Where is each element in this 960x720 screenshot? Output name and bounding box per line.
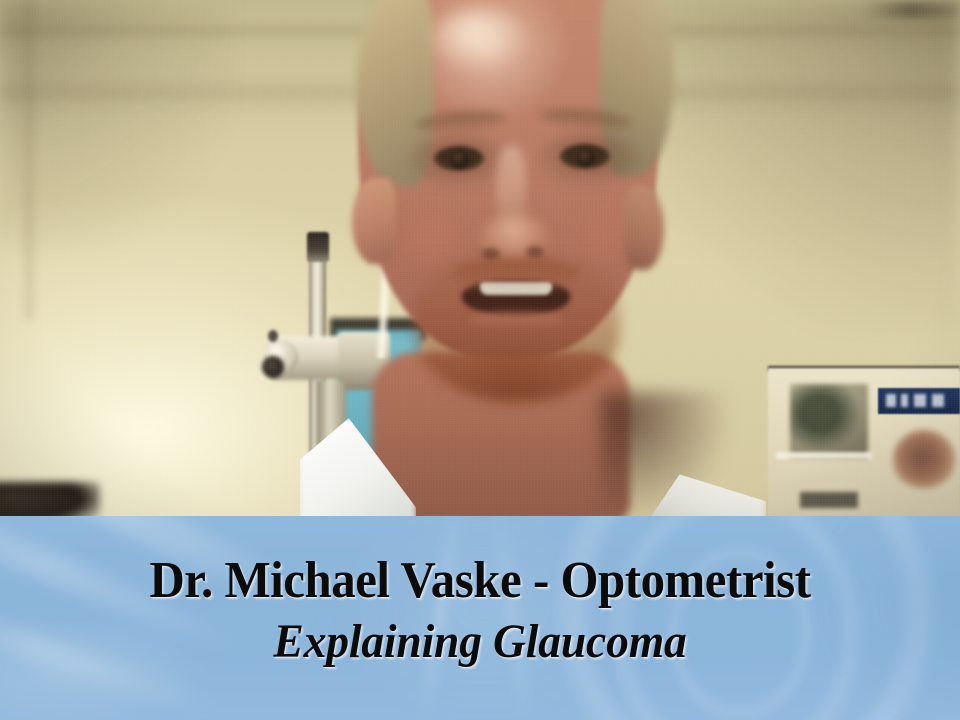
mustache (452, 258, 580, 290)
forehead-highlight (432, 8, 528, 70)
video-frame (0, 0, 960, 516)
pupil-left (450, 150, 469, 168)
cheek-right (566, 202, 638, 266)
lower-lip (468, 312, 564, 330)
ear-left (352, 178, 396, 264)
subject-person (0, 0, 960, 516)
video-still-screen: Dr. Michael Vaske - Optometrist Explaini… (0, 0, 960, 720)
title-line-name: Dr. Michael Vaske - Optometrist (29, 552, 931, 610)
title-line-subtitle: Explaining Glaucoma (24, 615, 936, 669)
pupil-right (576, 148, 595, 166)
